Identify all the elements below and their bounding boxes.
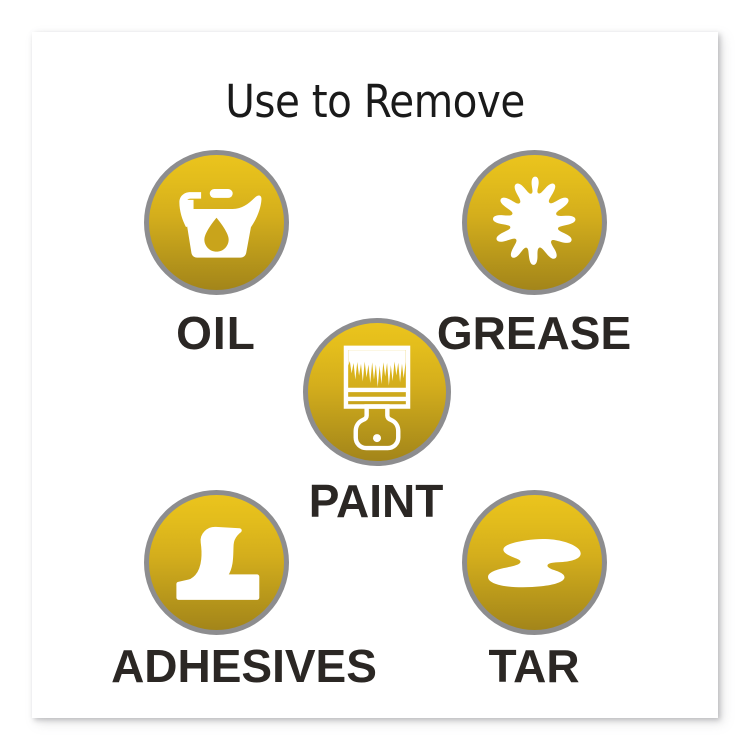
- badge-tar: [462, 490, 607, 635]
- product-feature-graphic: Use to Remove OIL: [0, 0, 750, 750]
- page-title: Use to Remove: [32, 79, 718, 124]
- peeling-tape-icon: [149, 495, 284, 630]
- badge-paint: [303, 318, 451, 466]
- white-card-panel: Use to Remove OIL: [32, 32, 718, 718]
- label-oil: OIL: [106, 310, 326, 356]
- paint-brush-icon: [308, 323, 446, 461]
- label-tar: TAR: [424, 643, 644, 689]
- label-paint: PAINT: [266, 478, 486, 524]
- tar-puddle-icon: [467, 495, 602, 630]
- label-adhesives: ADHESIVES: [80, 643, 408, 689]
- badge-oil: [144, 150, 289, 295]
- badge-grease: [462, 150, 607, 295]
- badge-adhesives: [144, 490, 289, 635]
- grease-splat-icon: [467, 155, 602, 290]
- oil-can-icon: [149, 155, 284, 290]
- label-grease: GREASE: [424, 310, 644, 356]
